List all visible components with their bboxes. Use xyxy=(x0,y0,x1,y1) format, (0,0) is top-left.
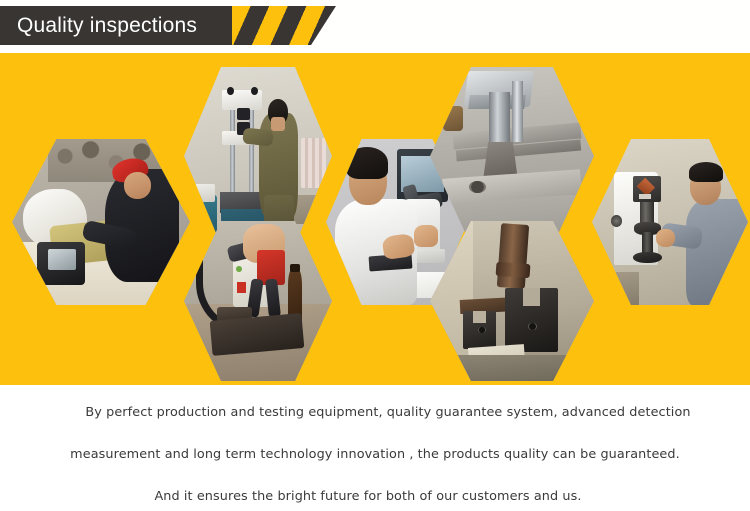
gallery-hex-2-photo xyxy=(184,67,332,245)
caption-line-2: measurement and long term technology inn… xyxy=(0,427,750,469)
gallery-hex-3[interactable] xyxy=(184,221,332,381)
page-title: Quality inspections xyxy=(0,15,197,36)
gallery-hex-7-photo xyxy=(592,139,748,305)
caption-block: By perfect production and testing equipm… xyxy=(0,385,750,485)
yellow-panel xyxy=(0,53,750,385)
header-bar: Quality inspections xyxy=(0,6,232,45)
caption-line-1: By perfect production and testing equipm… xyxy=(0,385,750,427)
gallery-hex-7[interactable] xyxy=(592,139,748,305)
hexagon-photo-collage xyxy=(0,53,750,385)
caption-line-3: And it ensures the bright future for bot… xyxy=(0,469,750,511)
gallery-hex-2[interactable] xyxy=(184,67,332,245)
quality-inspections-banner: Quality inspections xyxy=(0,0,750,485)
gallery-hex-3-photo xyxy=(184,221,332,381)
hazard-stripes-decoration xyxy=(232,6,336,45)
gallery-hex-1-photo xyxy=(12,139,190,305)
gallery-hex-1[interactable] xyxy=(12,139,190,305)
